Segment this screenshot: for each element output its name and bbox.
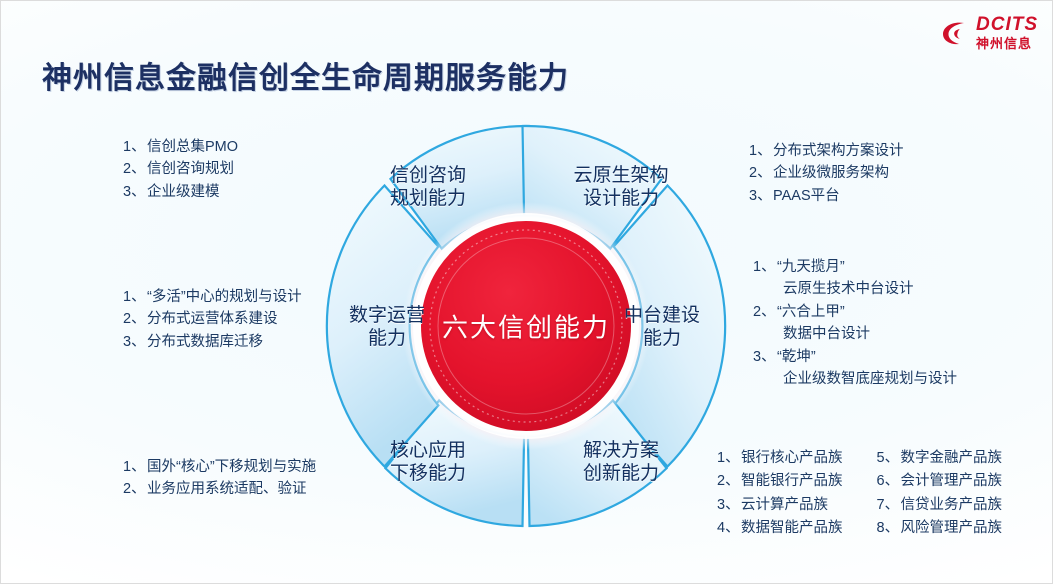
list-item-number: 3、 [123, 331, 147, 353]
logo-brand-en: DCITS [976, 15, 1038, 34]
list-item-number: 2、 [749, 162, 773, 184]
list-item-text: 业务应用系统适配、验证 [147, 478, 307, 500]
list-item: 1、分布式架构方案设计 [749, 140, 904, 162]
list-item-text: 信创咨询规划 [147, 158, 234, 180]
list-item: 2、智能银行产品族 [717, 470, 843, 493]
wheel-label-consulting: 信创咨询 规划能力 [363, 164, 493, 210]
list-item-text: 银行核心产品族 [741, 447, 843, 470]
list-item-text: 智能银行产品族 [741, 470, 843, 493]
list-item: 1、银行核心产品族 [717, 447, 843, 470]
wheel-center-label: 六大信创能力 [319, 308, 733, 345]
list-item-number: 1、 [753, 256, 777, 278]
list-item: 2、业务应用系统适配、验证 [123, 478, 316, 500]
list-item-number: 6、 [877, 470, 901, 493]
logo-wordmark: DCITS 神州信息 [976, 15, 1038, 50]
list-item: 3、企业级建模 [123, 181, 238, 203]
wheel-label-cloud-native: 云原生架构 设计能力 [551, 164, 691, 210]
list-item-number: 2、 [123, 478, 147, 500]
page-title: 神州信息金融信创全生命周期服务能力 [42, 53, 569, 97]
list-item: 6、会计管理产品族 [877, 470, 1003, 493]
list-item: 8、风险管理产品族 [877, 517, 1003, 540]
list-item: 1、“九天揽月” [753, 256, 957, 278]
list-item-number: 3、 [749, 185, 773, 207]
swirl-logo-icon [940, 18, 970, 48]
list-item-text: 信贷业务产品族 [901, 494, 1003, 517]
list-item-number: 2、 [717, 470, 741, 493]
list-item-text: “乾坤” [777, 346, 816, 368]
list-item-number: 1、 [123, 136, 147, 158]
list-item: 1、“多活”中心的规划与设计 [123, 286, 302, 308]
list-item: 1、国外“核心”下移规划与实施 [123, 456, 316, 478]
list-item-number: 2、 [753, 301, 777, 323]
list-item: 2、企业级微服务架构 [749, 162, 904, 184]
list-item-number: 3、 [753, 346, 777, 368]
list-item-text: 会计管理产品族 [901, 470, 1003, 493]
list-bottom-right: 1、银行核心产品族2、智能银行产品族3、云计算产品族4、数据智能产品族 5、数字… [717, 447, 1002, 541]
list-item-subtext: 数据中台设计 [753, 323, 957, 345]
list-item-number: 5、 [877, 447, 901, 470]
list-item-text: 风险管理产品族 [901, 517, 1003, 540]
list-item: 7、信贷业务产品族 [877, 494, 1003, 517]
list-item-text: 分布式架构方案设计 [773, 140, 904, 162]
list-item: 2、分布式运营体系建设 [123, 308, 302, 330]
list-item: 3、PAAS平台 [749, 185, 904, 207]
list-item: 5、数字金融产品族 [877, 447, 1003, 470]
list-item-number: 3、 [123, 181, 147, 203]
slide-canvas: DCITS 神州信息 神州信息金融信创全生命周期服务能力 [0, 0, 1053, 584]
list-item-text: 分布式数据库迁移 [147, 331, 263, 353]
list-item-text: PAAS平台 [773, 185, 840, 207]
list-item-text: 数字金融产品族 [901, 447, 1003, 470]
list-item-text: “多活”中心的规划与设计 [147, 286, 302, 308]
list-item: 4、数据智能产品族 [717, 517, 843, 540]
list-item-text: 企业级建模 [147, 181, 220, 203]
list-item-number: 1、 [717, 447, 741, 470]
list-item-subtext: 云原生技术中台设计 [753, 278, 957, 300]
list-item-text: 信创总集PMO [147, 136, 238, 158]
capability-wheel: 信创咨询 规划能力 云原生架构 设计能力 中台建设 能力 解决方案 创新能力 核… [319, 119, 733, 533]
list-item-text: 云计算产品族 [741, 494, 828, 517]
list-top-right: 1、分布式架构方案设计2、企业级微服务架构3、PAAS平台 [749, 140, 904, 207]
list-top-left: 1、信创总集PMO2、信创咨询规划3、企业级建模 [123, 136, 238, 203]
list-mid-right: 1、“九天揽月”云原生技术中台设计2、“六合上甲”数据中台设计3、“乾坤”企业级… [753, 256, 957, 391]
list-mid-left: 1、“多活”中心的规划与设计2、分布式运营体系建设3、分布式数据库迁移 [123, 286, 302, 353]
list-bottom-right-col2: 5、数字金融产品族6、会计管理产品族7、信贷业务产品族8、风险管理产品族 [877, 447, 1003, 541]
list-item-text: 分布式运营体系建设 [147, 308, 278, 330]
list-item-text: 数据智能产品族 [741, 517, 843, 540]
list-item: 2、信创咨询规划 [123, 158, 238, 180]
list-item: 1、信创总集PMO [123, 136, 238, 158]
list-item-number: 1、 [123, 286, 147, 308]
list-bottom-right-col1: 1、银行核心产品族2、智能银行产品族3、云计算产品族4、数据智能产品族 [717, 447, 843, 541]
list-item-text: “九天揽月” [777, 256, 845, 278]
list-bottom-left: 1、国外“核心”下移规划与实施2、业务应用系统适配、验证 [123, 456, 316, 501]
wheel-label-core-app: 核心应用 下移能力 [363, 439, 493, 485]
logo-brand-cn: 神州信息 [976, 37, 1038, 50]
list-item-number: 1、 [123, 456, 147, 478]
list-item-text: 企业级微服务架构 [773, 162, 889, 184]
wheel-label-solution: 解决方案 创新能力 [551, 439, 691, 485]
list-item-number: 1、 [749, 140, 773, 162]
list-item-number: 7、 [877, 494, 901, 517]
list-item: 3、分布式数据库迁移 [123, 331, 302, 353]
list-item-number: 4、 [717, 517, 741, 540]
list-item-number: 2、 [123, 308, 147, 330]
list-item: 2、“六合上甲” [753, 301, 957, 323]
brand-logo: DCITS 神州信息 [940, 15, 1038, 50]
list-item-subtext: 企业级数智底座规划与设计 [753, 368, 957, 390]
list-item: 3、云计算产品族 [717, 494, 843, 517]
list-item-number: 8、 [877, 517, 901, 540]
list-item-number: 3、 [717, 494, 741, 517]
list-item-text: 国外“核心”下移规划与实施 [147, 456, 316, 478]
list-item: 3、“乾坤” [753, 346, 957, 368]
list-item-number: 2、 [123, 158, 147, 180]
list-item-text: “六合上甲” [777, 301, 845, 323]
